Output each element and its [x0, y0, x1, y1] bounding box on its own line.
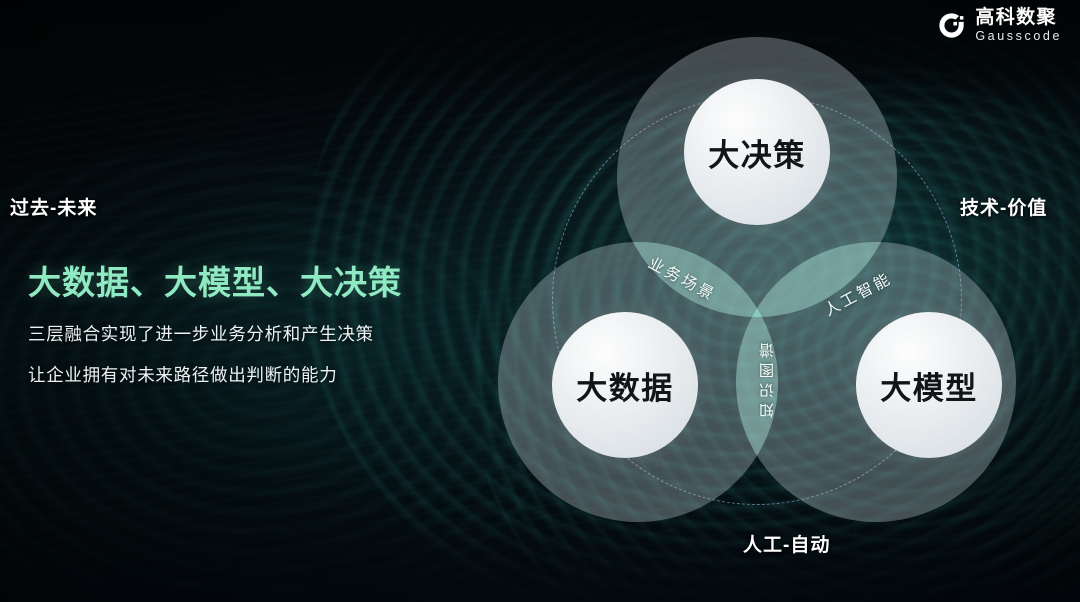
- subtitle-line-1: 三层融合实现了进一步业务分析和产生决策: [28, 321, 488, 346]
- headline-block: 大数据、大模型、大决策 三层融合实现了进一步业务分析和产生决策 让企业拥有对未来…: [28, 256, 488, 387]
- axis-label-tech-value: 技术-价值: [960, 193, 1047, 220]
- venn-core-bigdata[interactable]: 大数据: [552, 312, 698, 458]
- venn-core-bigdata-label: 大数据: [576, 363, 674, 408]
- venn-core-bigmodel[interactable]: 大模型: [856, 312, 1002, 458]
- venn-core-decision-label: 大决策: [708, 130, 806, 175]
- slide-canvas: 高科数聚 Gausscode 大数据、大模型、大决策 三层融合实现了进一步业务分…: [0, 0, 1080, 602]
- venn-core-decision[interactable]: 大决策: [684, 79, 830, 225]
- subtitle-line-2: 让企业拥有对未来路径做出判断的能力: [28, 362, 488, 387]
- page-title: 大数据、大模型、大决策: [28, 256, 488, 304]
- axis-label-manual-automatic: 人工-自动: [743, 530, 830, 557]
- axis-label-past-future: 过去-未来: [10, 193, 97, 220]
- venn-core-bigmodel-label: 大模型: [880, 363, 978, 408]
- overlap-label-knowledge-graph: 知识图谱: [757, 338, 777, 418]
- venn-diagram: 大决策 大数据 大模型 业务场景 人工智能 知识图谱 过去-未来 技术-价值 人…: [480, 0, 1080, 602]
